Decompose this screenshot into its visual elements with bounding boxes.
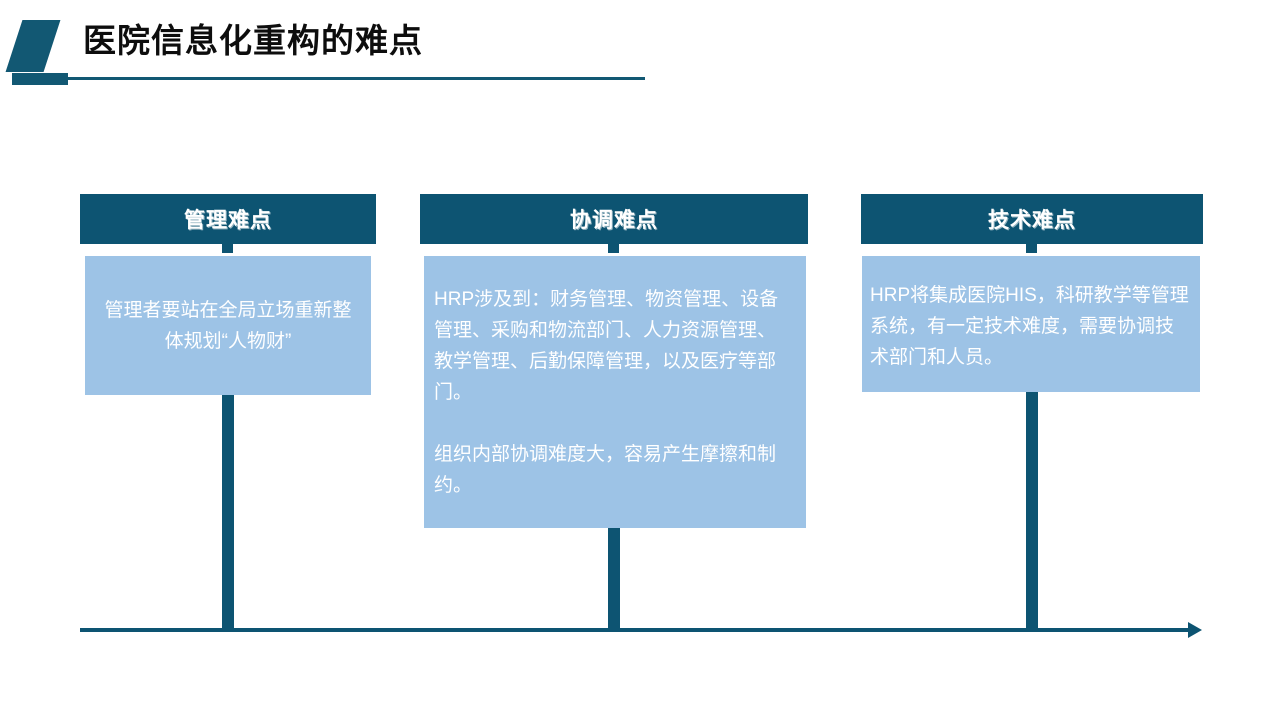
card-body-text-coordination: HRP涉及到：财务管理、物资管理、设备管理、采购和物流部门、人力资源管理、教学管… — [434, 284, 790, 501]
card-body-coordination: HRP涉及到：财务管理、物资管理、设备管理、采购和物流部门、人力资源管理、教学管… — [424, 256, 806, 528]
card-header-management: 管理难点 — [80, 194, 376, 244]
card-stem-technical — [1026, 392, 1038, 632]
title-divider-rule — [68, 77, 645, 80]
title-accent-bar — [12, 73, 68, 85]
timeline-arrow-icon — [1188, 622, 1202, 638]
card-body-text-technical: HRP将集成医院HIS，科研教学等管理系统，有一定技术难度，需要协调技术部门和人… — [870, 280, 1192, 373]
timeline-axis — [80, 628, 1190, 632]
card-stem-coordination — [608, 528, 620, 632]
card-body-text-management: 管理者要站在全局立场重新整体规划“人物财” — [103, 295, 353, 357]
card-stem-management — [222, 395, 234, 632]
slide-title-area: 医院信息化重构的难点 — [0, 0, 1280, 110]
card-body-management: 管理者要站在全局立场重新整体规划“人物财” — [85, 256, 371, 395]
page-title: 医院信息化重构的难点 — [83, 18, 423, 64]
card-header-coordination: 协调难点 — [420, 194, 808, 244]
card-notch-management — [222, 244, 233, 253]
card-notch-technical — [1026, 244, 1037, 253]
card-body-technical: HRP将集成医院HIS，科研教学等管理系统，有一定技术难度，需要协调技术部门和人… — [862, 256, 1200, 392]
card-notch-coordination — [608, 244, 619, 253]
title-accent-parallelogram-icon — [6, 20, 61, 72]
card-header-technical: 技术难点 — [861, 194, 1203, 244]
